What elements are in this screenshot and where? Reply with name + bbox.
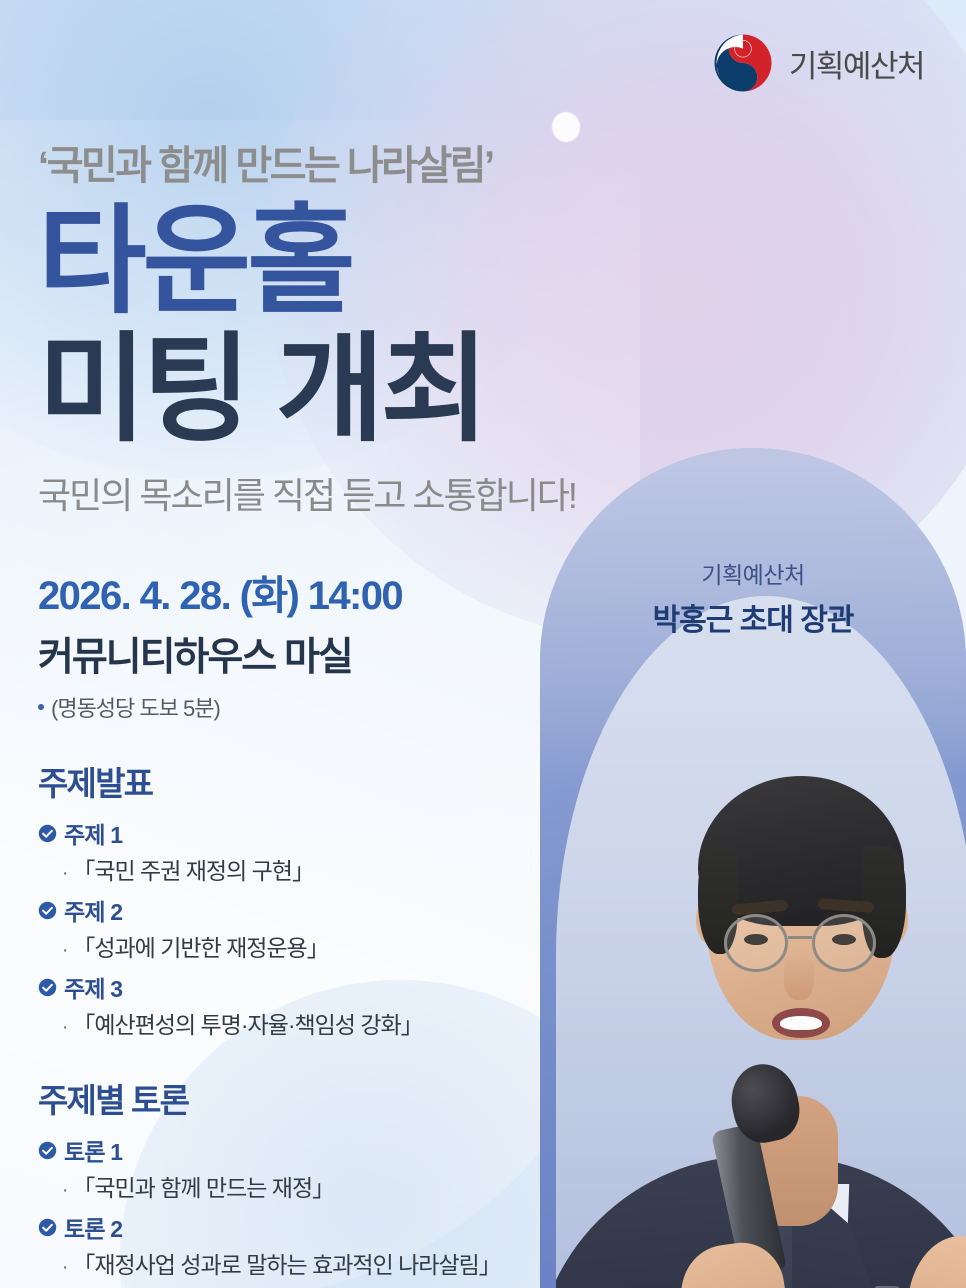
- discussion-item-detail: 「재정사업 성과로 말하는 효과적인 나라살림」: [72, 1246, 500, 1280]
- sub-bullet-icon: ·: [62, 1181, 67, 1200]
- presentation-section-title: 주제발표: [38, 757, 598, 805]
- presentation-item-detail: 「국민 주권 재정의 구현」: [72, 852, 314, 886]
- main-content: ‘국민과 함께 만드는 나라살림’ 타운홀 미팅 개최 국민의 목소리를 직접 …: [38, 0, 598, 1288]
- discussion-item-detail-row: · 「국민과 함께 만드는 재정」: [62, 1169, 598, 1203]
- presentation-item-label: 주제 2: [64, 893, 122, 927]
- presentation-item-detail-row: · 「예산편성의 투명·자율·책임성 강화」: [62, 1006, 598, 1040]
- speaker-photo: [556, 596, 966, 1288]
- discussion-item-detail: 「국민과 함께 만드는 재정」: [72, 1169, 334, 1203]
- presentation-item-detail: 「예산편성의 투명·자율·책임성 강화」: [72, 1006, 422, 1040]
- subtitle: 국민의 목소리를 직접 듣고 소통합니다!: [38, 467, 598, 519]
- discussion-item-detail-row: · 「재정사업 성과로 말하는 효과적인 나라살림」: [62, 1246, 598, 1280]
- taegeuk-icon: [712, 32, 774, 94]
- discussion-item-head: 토론 2: [38, 1210, 598, 1244]
- presentation-item-head: 주제 2: [38, 893, 598, 927]
- sub-bullet-icon: ·: [62, 864, 67, 883]
- portrait-glasses-bridge: [788, 936, 812, 939]
- check-circle-icon: [38, 901, 57, 920]
- list-item: 주제 1 · 「국민 주권 재정의 구현」: [38, 816, 598, 886]
- venue-note-text: (명동성당 도보 5분): [51, 691, 220, 723]
- list-item: 토론 2 · 「재정사업 성과로 말하는 효과적인 나라살림」: [38, 1210, 598, 1280]
- sub-bullet-icon: ·: [62, 1258, 67, 1277]
- check-circle-icon: [38, 1141, 57, 1160]
- check-circle-icon: [38, 978, 57, 997]
- government-logo: 기획예산처: [712, 32, 924, 94]
- speaker-name: 박홍근 초대 장관: [540, 595, 966, 639]
- list-item: 주제 2 · 「성과에 기반한 재정운용」: [38, 893, 598, 963]
- presentation-item-head: 주제 1: [38, 816, 598, 850]
- tagline: ‘국민과 함께 만드는 나라살림’: [38, 133, 598, 191]
- check-circle-icon: [38, 1218, 57, 1237]
- discussion-item-label: 토론 2: [64, 1210, 122, 1244]
- discussion-section-title: 주제별 토론: [38, 1074, 598, 1122]
- venue-note: (명동성당 도보 5분): [38, 691, 598, 723]
- title-line-1: 타운홀: [38, 203, 598, 321]
- list-item: 토론 1 · 「국민과 함께 만드는 재정」: [38, 1133, 598, 1203]
- discussion-item-head: 토론 1: [38, 1133, 598, 1167]
- sub-bullet-icon: ·: [62, 941, 67, 960]
- event-venue: 커뮤니티하우스 마실: [38, 626, 598, 682]
- portrait-teeth: [780, 1016, 822, 1030]
- presentation-item-label: 주제 1: [64, 816, 122, 850]
- title-line-2: 미팅 개최: [38, 331, 598, 449]
- presentation-item-detail-row: · 「국민 주권 재정의 구현」: [62, 852, 598, 886]
- bullet-dot-icon: [38, 704, 44, 710]
- presentation-item-detail: 「성과에 기반한 재정운용」: [72, 929, 328, 963]
- check-circle-icon: [38, 824, 57, 843]
- portrait-glasses-left: [724, 914, 788, 972]
- poster-root: 기획예산처 박홍근 초대 장관 기획예산처 ‘국민과 함께 만드는 나라살림’ …: [0, 0, 966, 1288]
- ministry-name: 기획예산처: [789, 41, 924, 86]
- section-presentation: 주제발표 주제 1 · 「국민 주권 재정의 구현」: [38, 757, 598, 1040]
- discussion-item-label: 토론 1: [64, 1133, 122, 1167]
- sub-bullet-icon: ·: [62, 1018, 67, 1037]
- portrait-nose: [784, 952, 814, 1000]
- portrait-illustration: [556, 596, 966, 1288]
- list-item: 주제 3 · 「예산편성의 투명·자율·책임성 강화」: [38, 970, 598, 1040]
- event-datetime: 2026. 4. 28. (화) 14:00: [38, 563, 598, 621]
- speaker-caption: 기획예산처 박홍근 초대 장관: [540, 556, 966, 639]
- presentation-item-label: 주제 3: [64, 970, 122, 1004]
- presentation-item-head: 주제 3: [38, 970, 598, 1004]
- portrait-glasses-right: [812, 914, 876, 972]
- speaker-organization: 기획예산처: [540, 556, 966, 590]
- section-discussion: 주제별 토론 토론 1 · 「국민과 함께 만드는 재정」: [38, 1074, 598, 1288]
- presentation-item-detail-row: · 「성과에 기반한 재정운용」: [62, 929, 598, 963]
